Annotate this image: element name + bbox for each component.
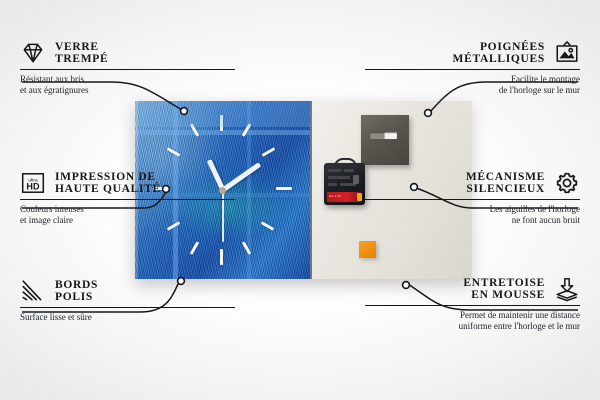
gear-icon bbox=[554, 170, 580, 196]
clock-tick bbox=[261, 221, 275, 231]
feature-poignees-metalliques: POIGNÉESMÉTALLIQUES Facilite le montaged… bbox=[365, 40, 580, 96]
mechanism-vent bbox=[353, 175, 359, 184]
clock-tick bbox=[262, 147, 276, 157]
hanger-slot bbox=[370, 132, 397, 139]
mechanism-vent bbox=[328, 183, 337, 186]
feature-impression-haute-qualite: ultra HD IMPRESSION DEHAUTE QUALITÉ Coul… bbox=[20, 170, 235, 226]
feature-title: BORDSPOLIS bbox=[55, 279, 98, 304]
feature-description: Facilite le montagede l'horloge sur le m… bbox=[365, 74, 580, 96]
mechanism-vent bbox=[344, 169, 354, 172]
feature-description: Les aiguilles de l'horlogene font aucun … bbox=[365, 204, 580, 226]
feature-header: ENTRETOISEEN MOUSSE bbox=[365, 276, 580, 302]
feature-title: IMPRESSION DEHAUTE QUALITÉ bbox=[55, 171, 161, 196]
feature-description: Couleurs intenseset image claire bbox=[20, 204, 235, 226]
feature-title: POIGNÉESMÉTALLIQUES bbox=[453, 41, 545, 66]
feature-header: VERRETREMPÉ bbox=[20, 40, 235, 66]
foam-spacer-icon bbox=[554, 276, 580, 302]
ultra-hd-icon: ultra HD bbox=[20, 170, 46, 196]
feature-divider bbox=[20, 307, 235, 308]
battery: AA 1.5V bbox=[327, 192, 361, 202]
feature-divider bbox=[365, 199, 580, 200]
clock-tick bbox=[276, 187, 292, 190]
feature-divider bbox=[365, 69, 580, 70]
clock-tick bbox=[220, 249, 223, 265]
battery-terminal bbox=[357, 193, 362, 201]
feature-bords-polis: BORDSPOLIS Surface lisse et sûre bbox=[20, 278, 235, 323]
feature-header: MÉCANISMESILENCIEUX bbox=[365, 170, 580, 196]
feature-header: ultra HD IMPRESSION DEHAUTE QUALITÉ bbox=[20, 170, 235, 196]
foam-spacer-pad bbox=[359, 241, 376, 258]
clock-mechanism-box: AA 1.5V bbox=[324, 163, 365, 205]
feature-description: Résistant aux briset aux égratignures bbox=[20, 74, 235, 96]
clock-tick bbox=[220, 115, 223, 131]
feature-verre-trempe: VERRETREMPÉ Résistant aux briset aux égr… bbox=[20, 40, 235, 96]
mechanism-loop bbox=[334, 158, 357, 169]
feature-divider bbox=[20, 69, 235, 70]
feature-title: VERRETREMPÉ bbox=[55, 41, 108, 66]
feature-header: POIGNÉESMÉTALLIQUES bbox=[365, 40, 580, 66]
picture-hanger-icon bbox=[554, 40, 580, 66]
feature-header: BORDSPOLIS bbox=[20, 278, 235, 304]
metal-hanger-plate bbox=[361, 115, 409, 165]
feature-description: Surface lisse et sûre bbox=[20, 312, 235, 323]
battery-label: AA 1.5V bbox=[329, 194, 341, 198]
feature-title: MÉCANISMESILENCIEUX bbox=[466, 171, 545, 196]
polished-edge-icon bbox=[20, 278, 46, 304]
clock-tick bbox=[190, 241, 200, 255]
diamond-icon bbox=[20, 40, 46, 66]
feature-description: Permet de maintenir une distanceuniforme… bbox=[365, 310, 580, 332]
infographic-canvas: AA 1.5V bbox=[0, 0, 600, 400]
svg-text:HD: HD bbox=[26, 182, 40, 192]
feature-divider bbox=[365, 305, 580, 306]
feature-divider bbox=[20, 199, 235, 200]
mechanism-vent bbox=[328, 169, 341, 172]
feature-title: ENTRETOISEEN MOUSSE bbox=[463, 277, 545, 302]
mechanism-vent bbox=[328, 176, 350, 179]
feature-entretoise-en-mousse: ENTRETOISEEN MOUSSE Permet de maintenir … bbox=[365, 276, 580, 332]
feature-mecanisme-silencieux: MÉCANISMESILENCIEUX Les aiguilles de l'h… bbox=[365, 170, 580, 226]
